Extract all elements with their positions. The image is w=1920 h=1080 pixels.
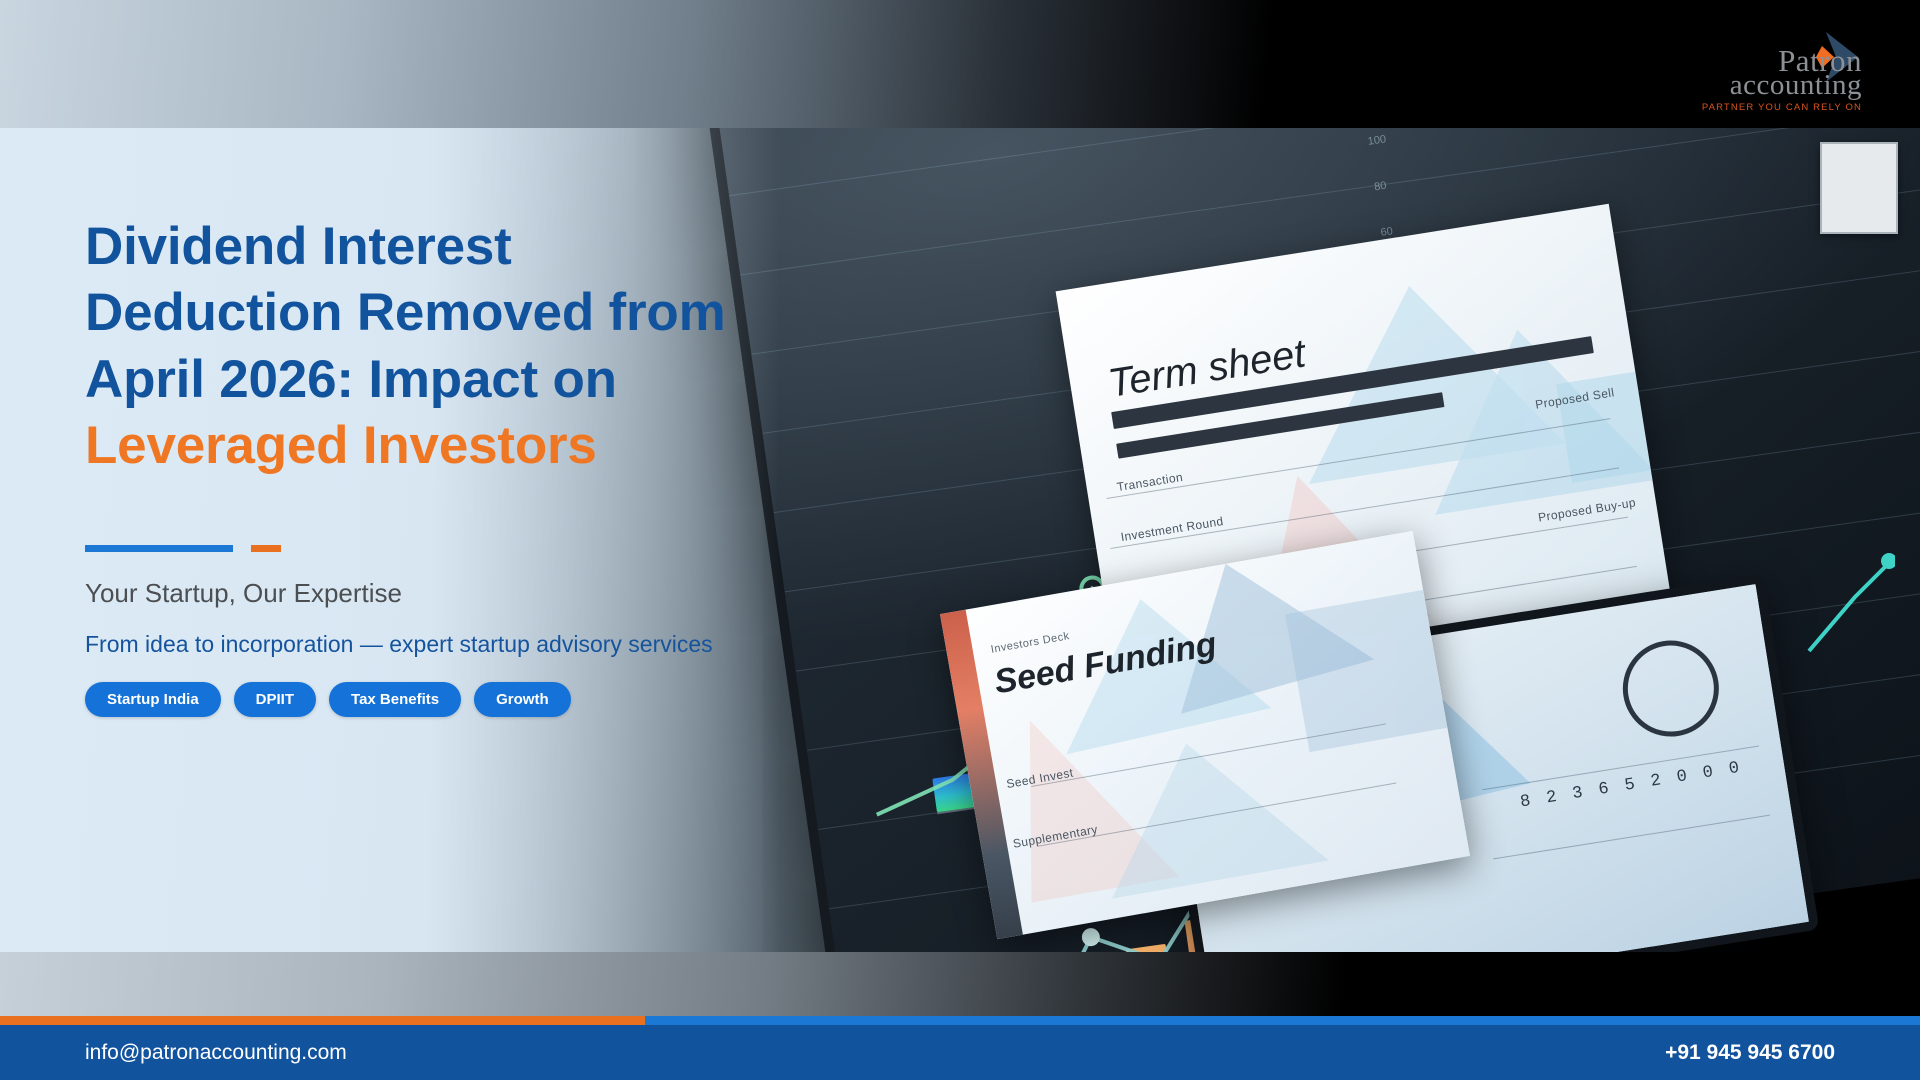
tag-pill-group: Startup India DPIIT Tax Benefits Growth (85, 682, 571, 717)
subline: From idea to incorporation — expert star… (85, 631, 713, 658)
headline-highlight: Leveraged Investors (85, 413, 985, 479)
top-band (0, 0, 1920, 128)
tag-pill-startup-india[interactable]: Startup India (85, 682, 221, 717)
tag-pill-tax-benefits[interactable]: Tax Benefits (329, 682, 461, 717)
footer-bar: info@patronaccounting.com +91 945 945 67… (0, 1025, 1920, 1080)
doc-field: Investment Round (1120, 514, 1225, 544)
tagline: Your Startup, Our Expertise (85, 578, 402, 609)
y-tick: 100 (1367, 133, 1387, 147)
tag-pill-dpiit[interactable]: DPIIT (234, 682, 316, 717)
logo-tagline: PARTNER YOU CAN RELY ON (1652, 102, 1862, 113)
tag-pill-growth[interactable]: Growth (474, 682, 571, 717)
headline-line-1: Dividend Interest (85, 217, 512, 276)
footer-email[interactable]: info@patronaccounting.com (85, 1041, 347, 1065)
headline-line-2: Deduction Removed from (85, 283, 726, 342)
y-tick: 80 (1373, 179, 1393, 193)
logo-wordmark: Patron accounting (1730, 46, 1862, 100)
brand-logo[interactable]: Patron accounting PARTNER YOU CAN RELY O… (1652, 46, 1862, 113)
divider-blue-bar (85, 545, 233, 552)
divider-orange-bar (251, 545, 281, 552)
headline-line-3: April 2026: Impact on (85, 350, 617, 409)
poster-canvas: 100 80 60 40 20 (0, 0, 1920, 1080)
footer-rule-blue (645, 1016, 1920, 1025)
page-title: Dividend Interest Deduction Removed from… (85, 214, 985, 479)
footer-phone[interactable]: +91 945 945 6700 (1665, 1041, 1835, 1065)
logo-word-secondary: accounting (1730, 71, 1862, 100)
placeholder-box (1820, 142, 1898, 234)
footer-rule-orange (0, 1016, 645, 1025)
accent-divider (85, 545, 281, 552)
accent-arrow-icon (1805, 545, 1895, 655)
